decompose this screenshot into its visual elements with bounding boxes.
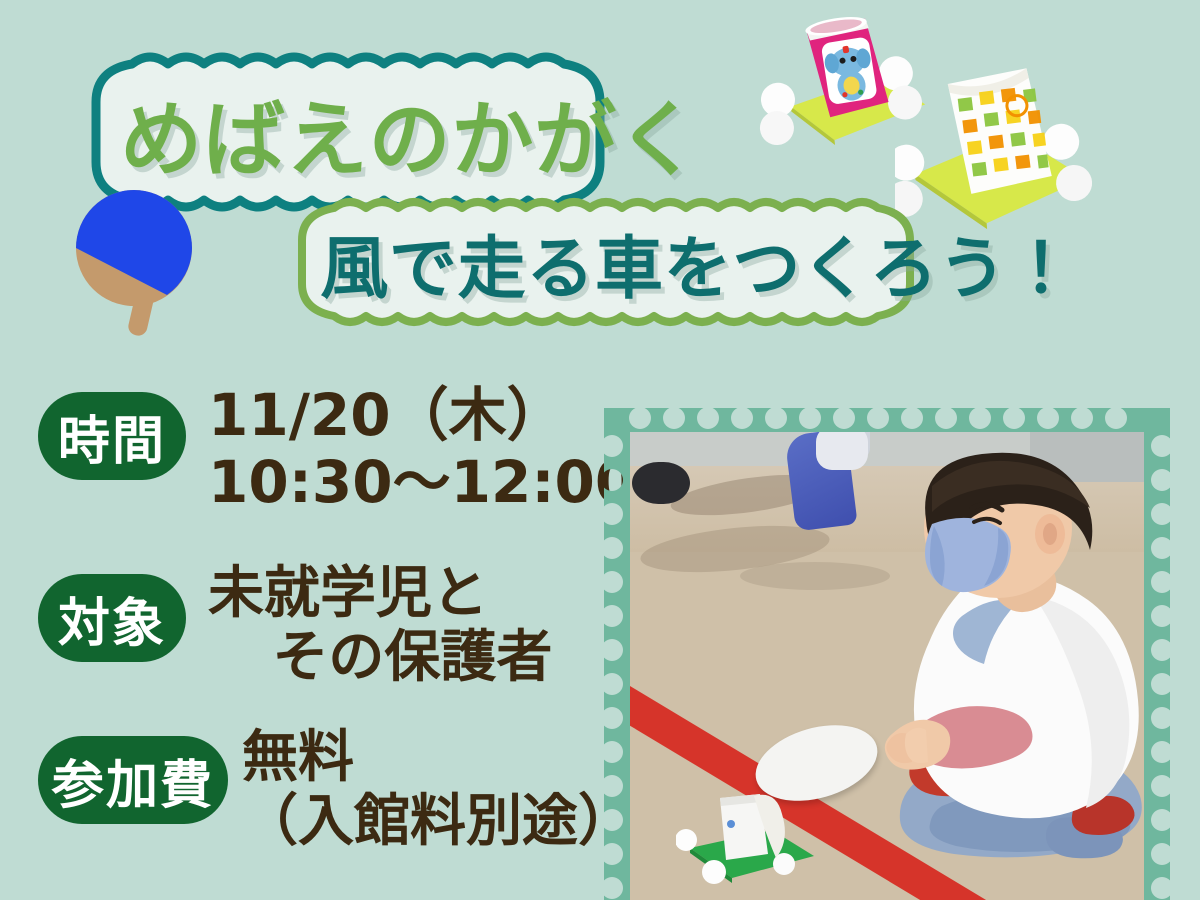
badge-target: 対象 [38,574,186,662]
info-lines-time: 11/20（木） 10:30〜12:00 [208,382,635,515]
info-line: 無料 [242,726,634,790]
poster-canvas: めばえのかがく 風で走る車をつくろう！ 時間 11/20（木） 10:30〜12… [0,0,1200,900]
toy-cup-car [676,784,826,892]
info-line: 10:30〜12:00 [208,449,635,516]
badge-fee: 参加費 [38,736,228,824]
uchiwa-fan-icon [68,186,218,341]
info-lines-fee: 無料 （入館料別途） [242,726,634,855]
info-row-time: 時間 11/20（木） 10:30〜12:00 [38,382,635,515]
photo-stamp-frame [604,408,1170,900]
page-subtitle: 風で走る車をつくろう！ [278,198,1118,326]
info-lines-target: 未就学児と その保護者 [208,562,552,691]
subtitle-cloud: 風で走る車をつくろう！ [278,198,1118,326]
info-line: 11/20（木） [208,382,635,449]
photo-image [630,432,1144,900]
info-line: 未就学児と [208,562,552,626]
info-row-target: 対象 未就学児と その保護者 [38,562,552,691]
info-row-fee: 参加費 無料 （入館料別途） [38,726,634,855]
info-line: その保護者 [208,626,552,690]
child-figure [822,450,1144,900]
badge-time: 時間 [38,392,186,480]
info-line: （入館料別途） [242,790,634,854]
